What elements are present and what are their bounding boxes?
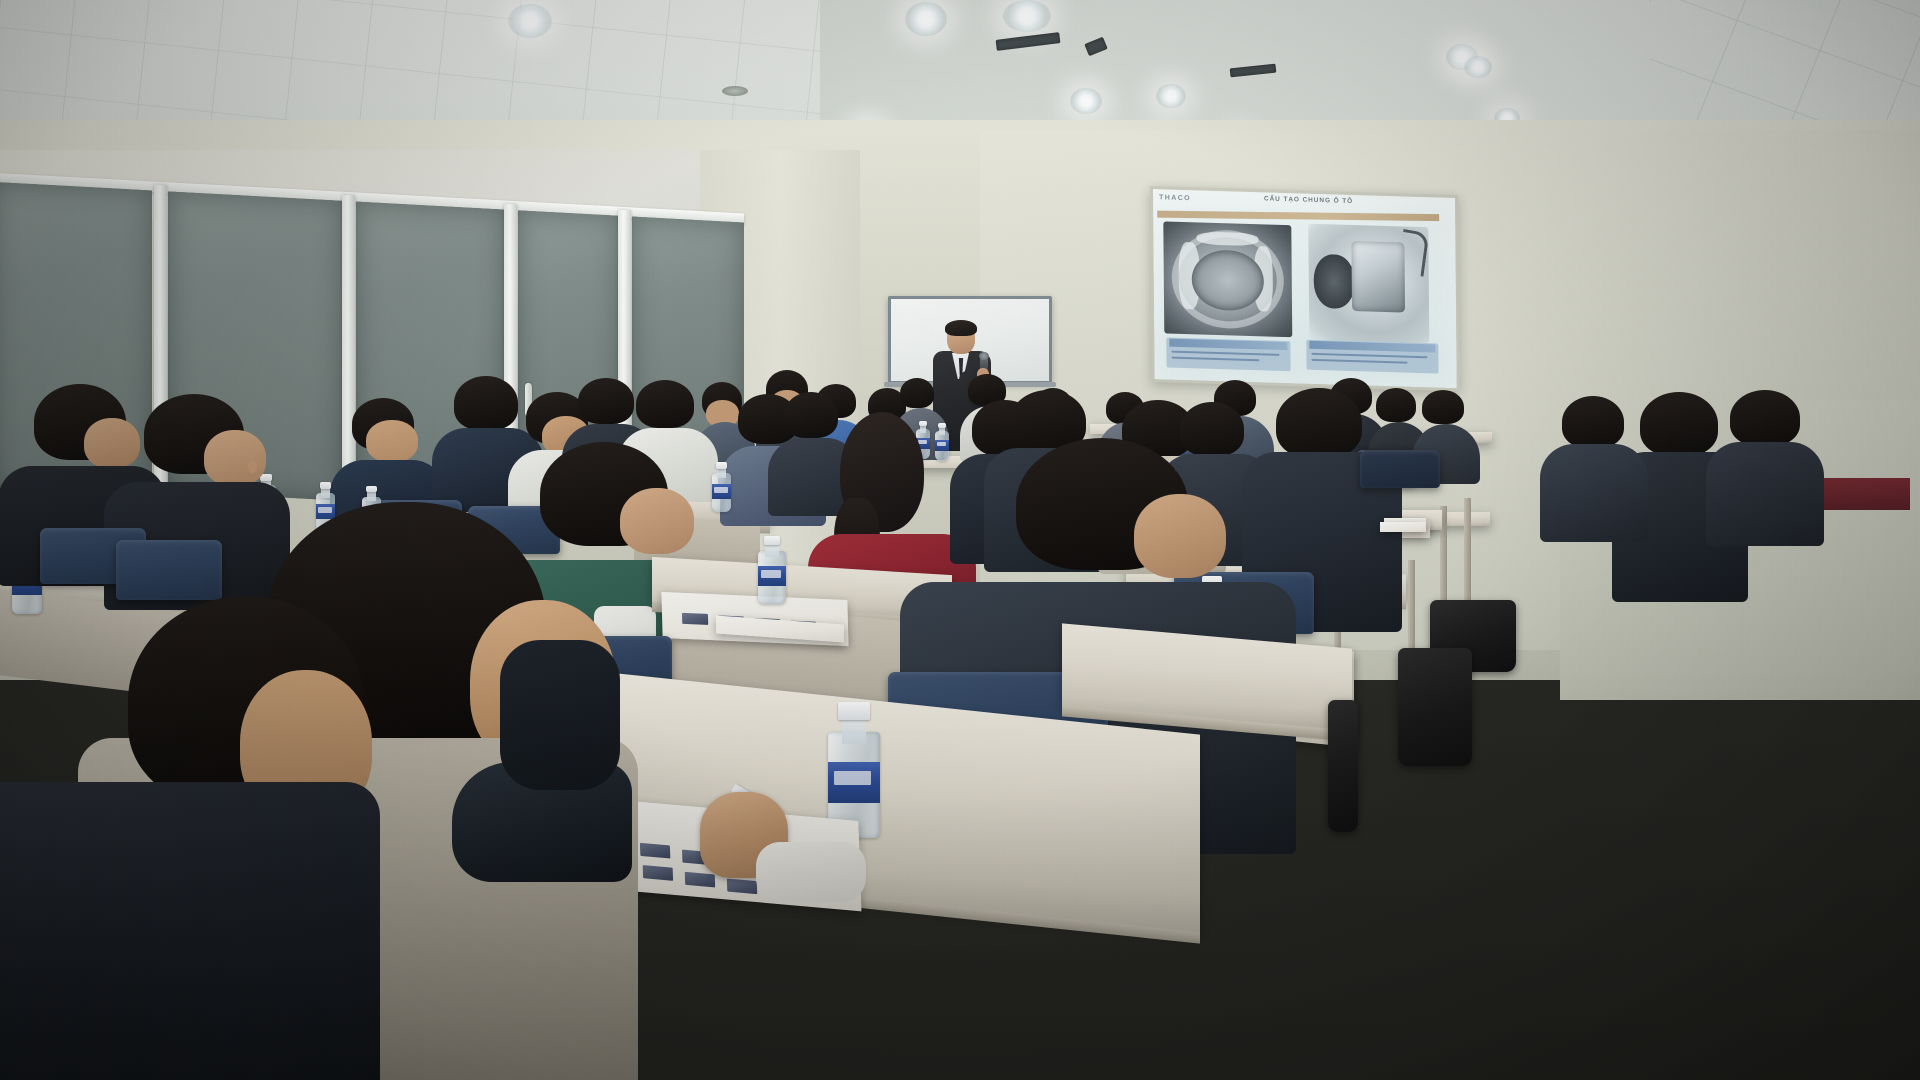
ceiling-spotlight	[905, 2, 947, 36]
person-hair	[636, 380, 694, 428]
slide-body	[1153, 217, 1456, 388]
drum-brake-caption	[1166, 337, 1290, 371]
disc-brake-caption	[1306, 340, 1438, 374]
ceiling-spotlight	[1003, 0, 1051, 32]
shirt-cuff	[756, 842, 866, 902]
drum-brake-diagram	[1163, 221, 1292, 337]
caption-text-line	[1311, 359, 1407, 364]
audience-member	[1712, 390, 1818, 540]
slide-title: CẤU TẠO CHUNG Ô TÔ	[1264, 195, 1353, 205]
brochure-thumbnail	[685, 872, 715, 888]
projection-screen: THACO CẤU TẠO CHUNG Ô TÔ	[1150, 186, 1460, 391]
person-hair	[454, 376, 518, 430]
classroom-photo-scene: THACO CẤU TẠO CHUNG Ô TÔ	[0, 0, 1920, 1080]
person-hair	[1562, 396, 1624, 448]
person-head	[366, 420, 418, 462]
bottle-cap	[838, 702, 869, 720]
bottle-cap	[366, 486, 377, 492]
ceiling-spotlight	[1156, 84, 1186, 108]
person-torso	[1706, 442, 1824, 546]
person-head	[1134, 494, 1226, 578]
caption-title-bar	[1309, 341, 1435, 353]
brake-hose	[1398, 229, 1430, 277]
audience-member-foreground-far-left	[0, 596, 360, 1080]
water-bottle	[758, 536, 786, 604]
thaco-logo: THACO	[1159, 194, 1191, 202]
brochure-thumbnail	[643, 865, 673, 881]
backpack	[1398, 648, 1472, 766]
person-ear	[248, 460, 257, 473]
brochure-thumbnail	[682, 613, 708, 625]
bottle-cap	[764, 536, 781, 545]
smoke-detector-icon	[722, 86, 748, 96]
wheel-hub	[1313, 254, 1354, 309]
person-head	[620, 488, 694, 554]
caption-text-line	[1171, 357, 1259, 362]
water-bottle	[712, 462, 731, 512]
ceiling-spotlight	[1070, 88, 1102, 114]
bottle-cap	[716, 462, 727, 469]
bottle-label	[758, 566, 786, 586]
brake-shoe	[1253, 246, 1273, 312]
person-hair	[1276, 388, 1362, 458]
ceiling-spotlight	[508, 4, 552, 38]
disc-brake-diagram	[1308, 224, 1429, 344]
microphone-head-icon	[979, 352, 989, 360]
audience-member	[1546, 396, 1642, 536]
person-torso	[1540, 444, 1648, 542]
bag-strap	[1328, 700, 1358, 832]
caption-title-bar	[1169, 339, 1287, 351]
brake-shoe	[1179, 242, 1200, 310]
caption-text-line	[1311, 353, 1427, 358]
presentation-slide: THACO CẤU TẠO CHUNG Ô TÔ	[1153, 189, 1457, 388]
bottle-label	[712, 484, 731, 499]
person-hair	[1730, 390, 1800, 446]
person-hair	[900, 378, 934, 408]
caption-text-line	[1171, 351, 1279, 356]
ceiling-spotlight	[1464, 56, 1492, 78]
bottle-label	[828, 762, 880, 803]
person-head	[204, 430, 266, 486]
person-dark-jacket	[0, 782, 380, 1080]
person-hair	[1640, 392, 1718, 456]
brake-caliper	[1352, 241, 1405, 312]
brochure-thumbnail	[640, 843, 670, 859]
water-bottle-foreground	[828, 702, 880, 838]
person-shoulder	[500, 640, 620, 790]
presenter-hair	[945, 320, 977, 336]
paper-document	[1380, 522, 1426, 532]
bottle-cap	[320, 482, 331, 489]
chair[interactable]	[1360, 450, 1440, 488]
person-hair	[1422, 390, 1464, 424]
brochure-thumbnail	[727, 878, 757, 894]
